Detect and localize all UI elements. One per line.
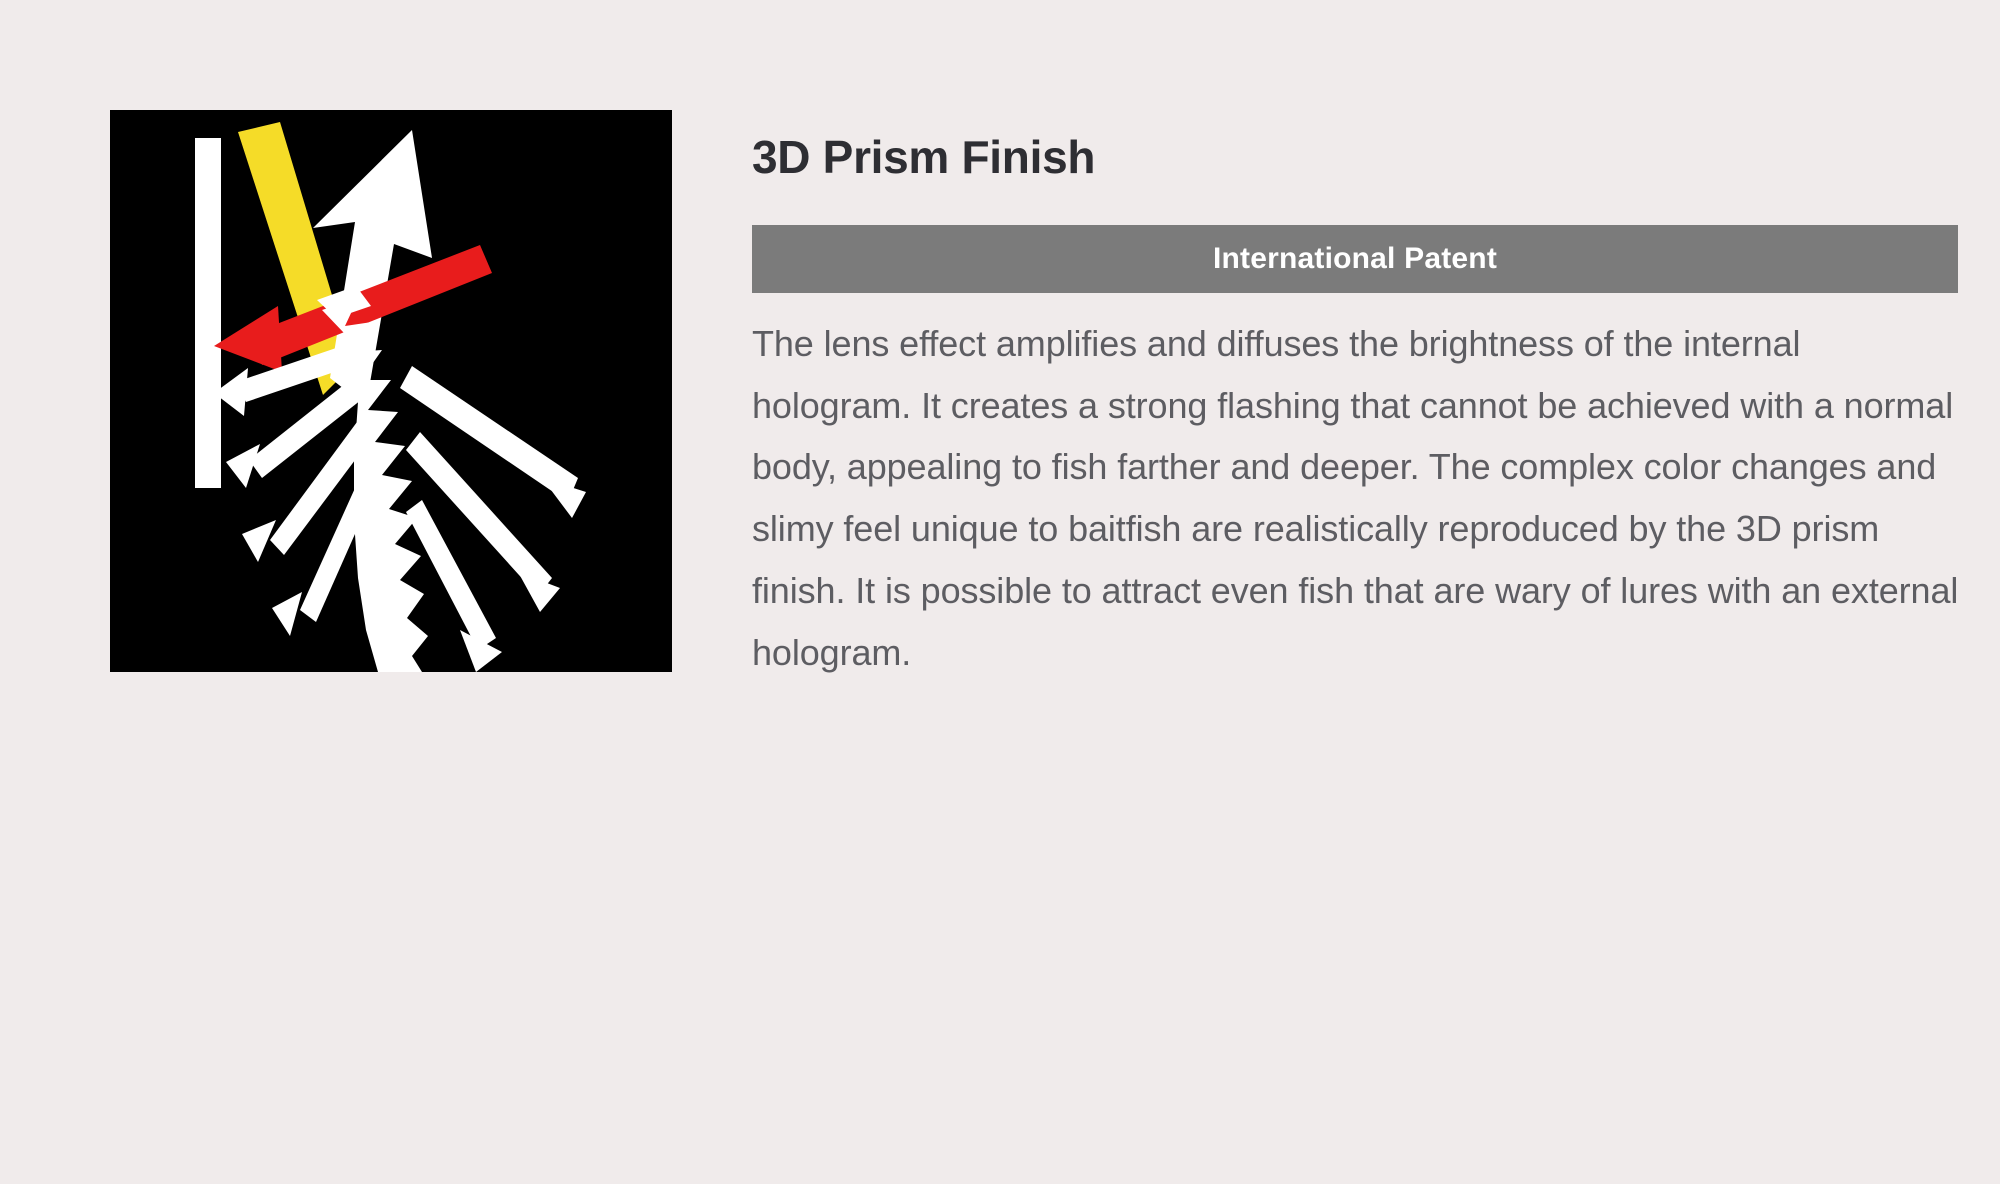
page-title: 3D Prism Finish — [752, 110, 1958, 183]
status-badge: International Patent — [752, 225, 1958, 293]
patent-banner-label: International Patent — [1213, 244, 1497, 274]
feature-description-text: The lens effect amplifies and diffuses t… — [752, 313, 1962, 684]
feature-block: 3D Prism Finish International Patent The… — [0, 0, 2000, 1184]
prism-light-diffusion-diagram — [110, 110, 672, 672]
vertical-white-bar-icon — [195, 138, 221, 488]
feature-text-column: 3D Prism Finish International Patent The… — [752, 110, 1958, 684]
feature-description: The lens effect amplifies and diffuses t… — [752, 313, 1962, 684]
prism-diagram-svg — [110, 110, 672, 672]
